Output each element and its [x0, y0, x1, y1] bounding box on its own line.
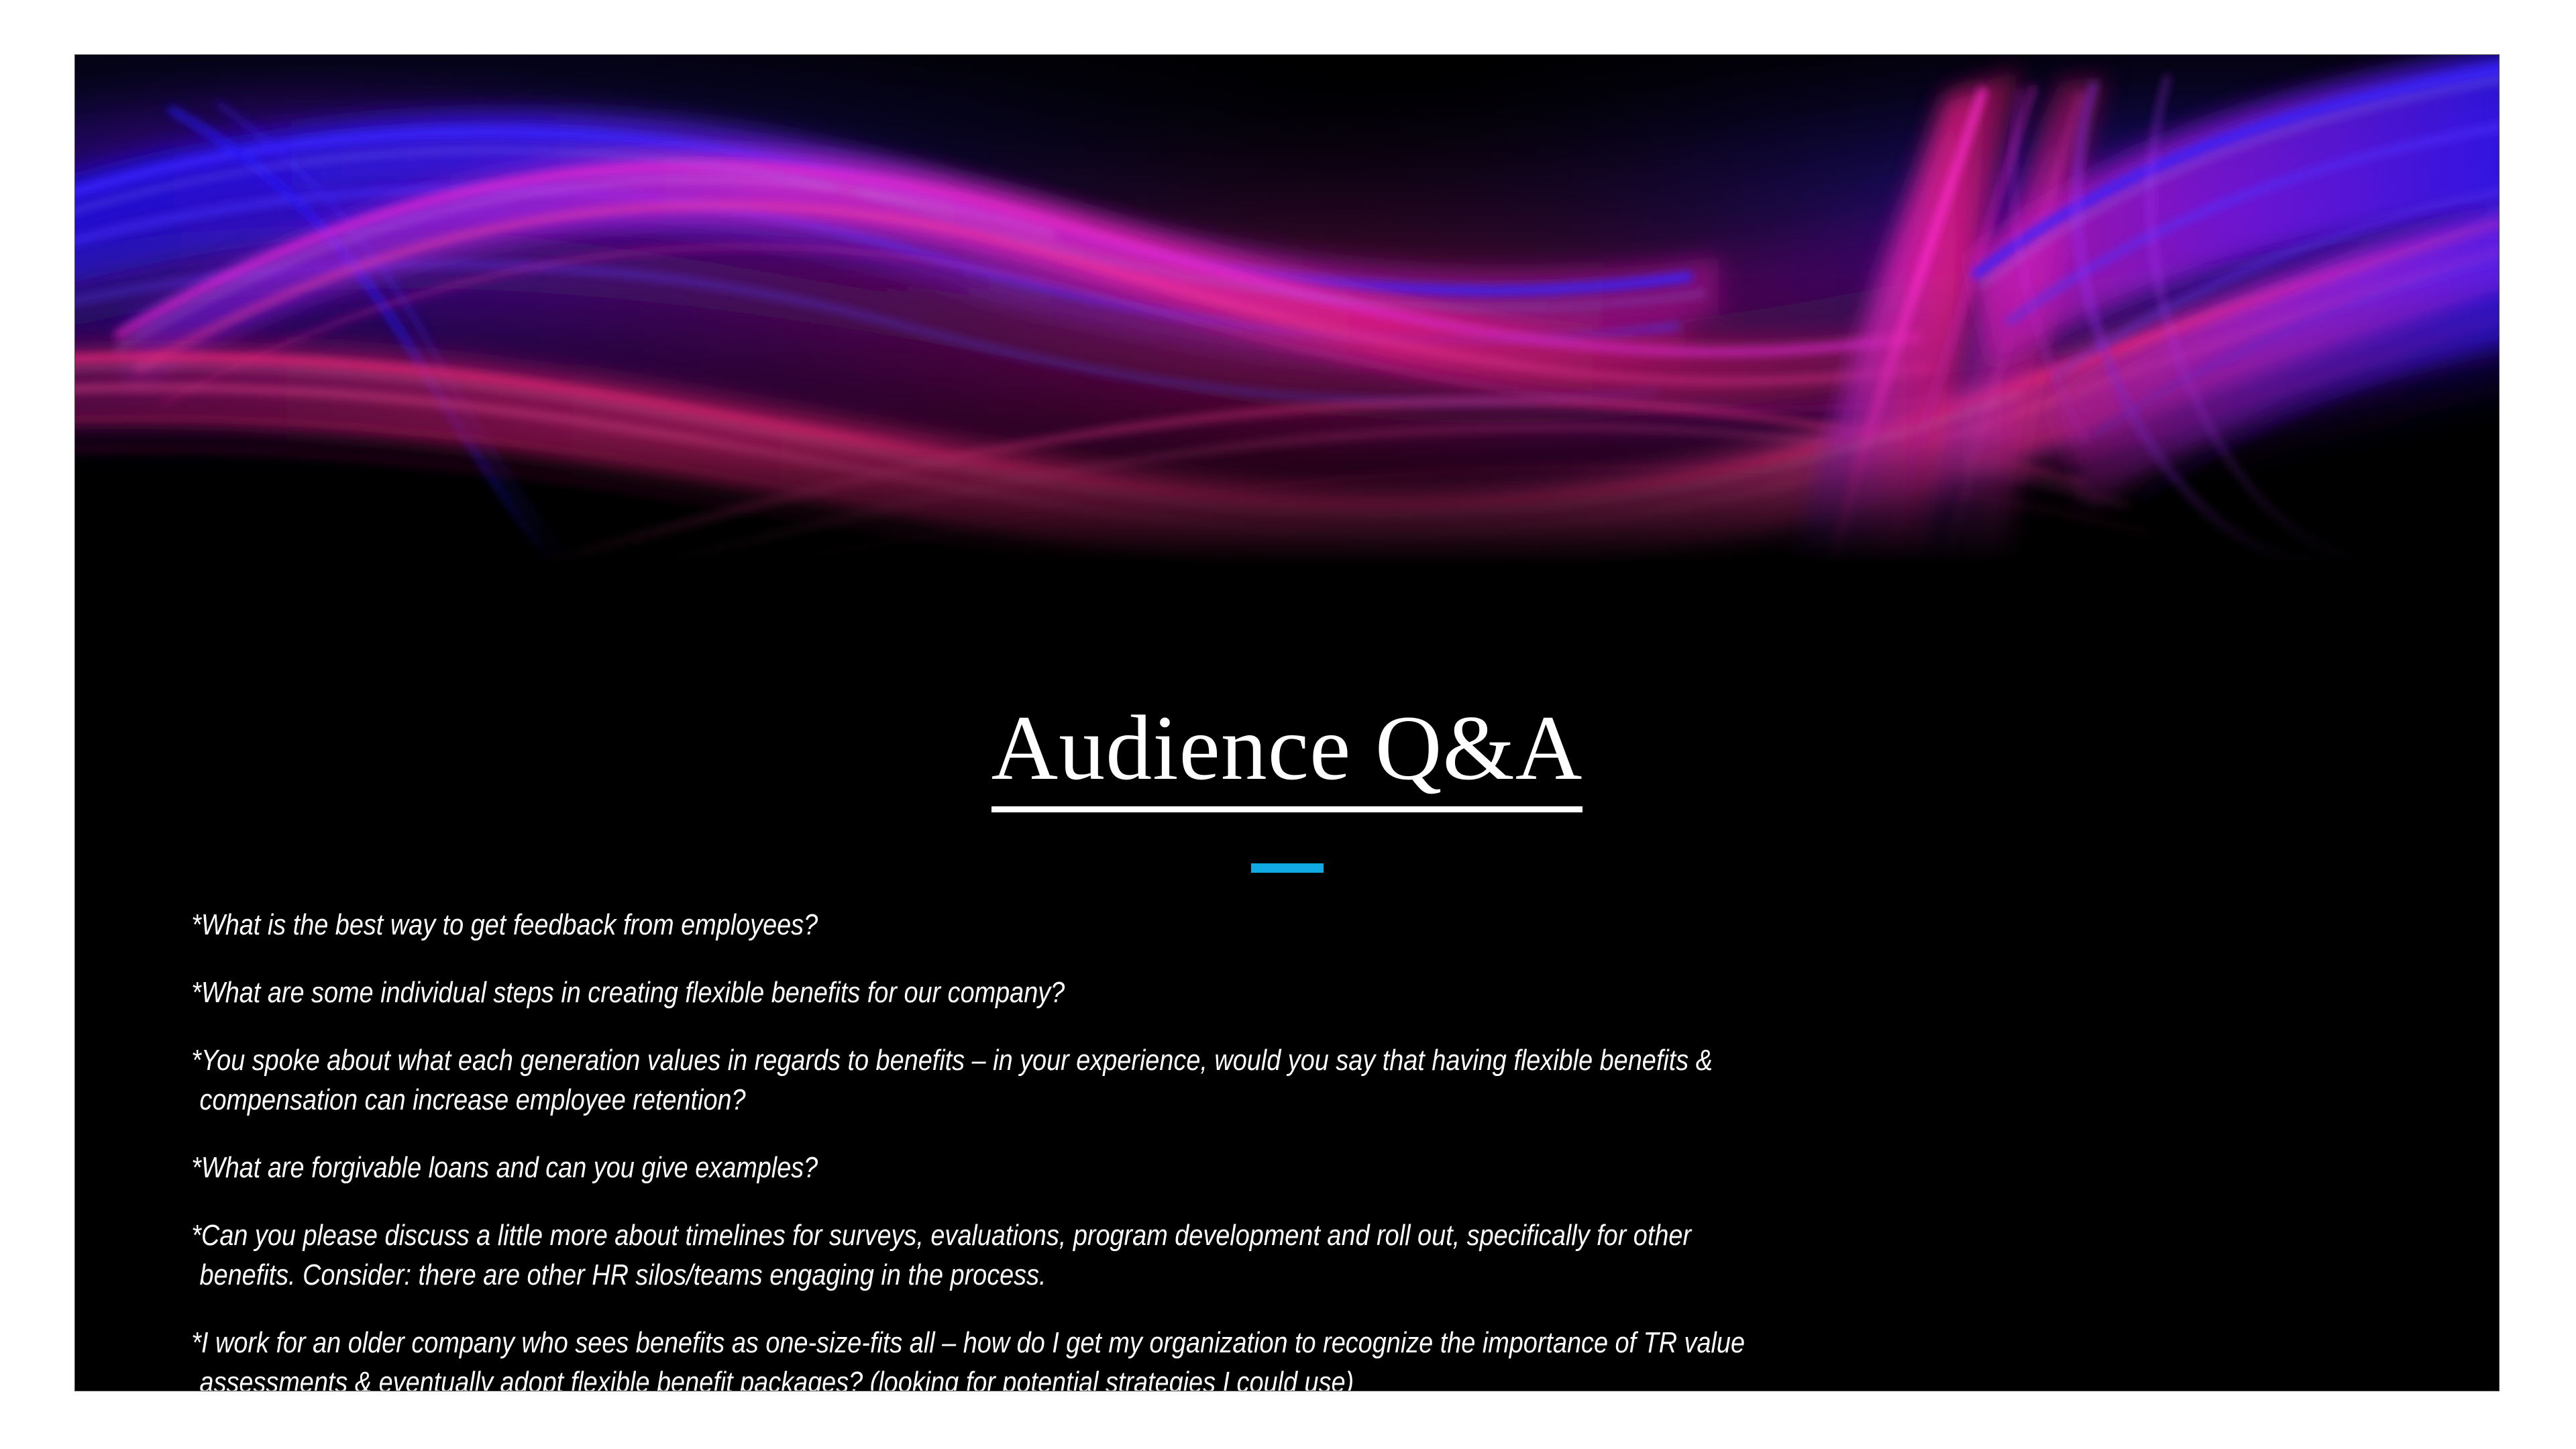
- list-item: *I work for an older company who sees be…: [193, 1324, 2401, 1391]
- slide-canvas: Audience Q&A *What is the best way to ge…: [0, 0, 2576, 1449]
- list-item: *Can you please discuss a little more ab…: [193, 1216, 2401, 1295]
- list-item: *What is the best way to get feedback fr…: [193, 906, 2401, 945]
- question-list: *What is the best way to get feedback fr…: [193, 906, 2406, 1391]
- page-title: Audience Q&A: [991, 699, 1583, 812]
- wave-graphic: [75, 55, 2499, 565]
- title-block: Audience Q&A: [75, 699, 2499, 873]
- presentation-slide: Audience Q&A *What is the best way to ge…: [75, 55, 2499, 1391]
- list-item: *You spoke about what each generation va…: [193, 1041, 2401, 1120]
- accent-bar: [1251, 863, 1324, 873]
- list-item: *What are forgivable loans and can you g…: [193, 1148, 2401, 1188]
- list-item: *What are some individual steps in creat…: [193, 973, 2401, 1013]
- abstract-wave-banner: [75, 55, 2499, 565]
